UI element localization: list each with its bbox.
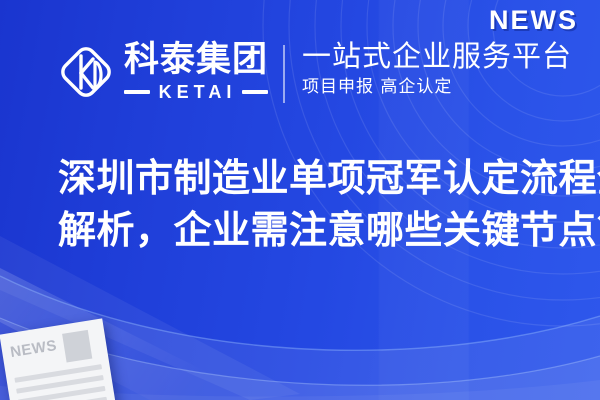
brand-logo[interactable]: 科泰集团 KETAI: [56, 42, 268, 102]
brand-name-english: KETAI: [156, 83, 237, 101]
newspaper-card-header: NEWS: [9, 329, 100, 371]
logo-dash-right: [242, 90, 268, 94]
newspaper-card-text-lines: [14, 364, 107, 400]
headline-line-1: 深圳市制造业单项冠军认定流程全: [58, 152, 558, 204]
newspaper-card-title: NEWS: [9, 338, 58, 360]
brand-name-chinese: 科泰集团: [124, 43, 268, 78]
tagline-primary: 一站式企业服务平台: [302, 40, 572, 73]
brand-logo-wordmark: 科泰集团 KETAI: [124, 43, 268, 101]
headline-line-2: 解析，企业需注意哪些关键节点？: [58, 204, 558, 256]
banner-header: NEWS 科泰集团 KETAI: [0, 0, 600, 140]
news-kicker-label: NEWS: [489, 5, 578, 36]
logo-dash-left: [124, 90, 150, 94]
tagline-secondary: 项目申报 高企认定: [302, 77, 572, 97]
header-divider: [283, 45, 285, 103]
article-headline: 深圳市制造业单项冠军认定流程全 解析，企业需注意哪些关键节点？: [58, 152, 558, 257]
article-thumbnail-placeholder-icon: [62, 330, 92, 363]
brand-tagline: 一站式企业服务平台 项目申报 高企认定: [302, 40, 572, 98]
brand-name-english-row: KETAI: [124, 83, 268, 101]
ketai-diamond-monogram-icon: [56, 42, 116, 102]
news-banner: NEWS 科泰集团 KETAI: [0, 0, 600, 400]
